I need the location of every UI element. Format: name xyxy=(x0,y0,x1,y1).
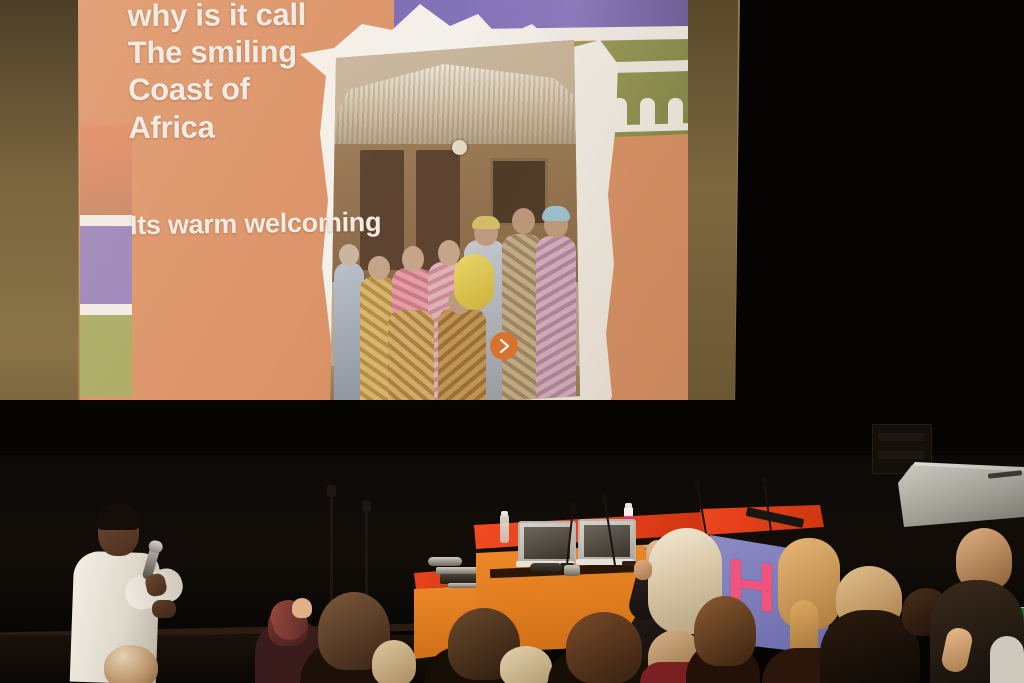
screen-right-margin xyxy=(688,0,738,415)
screen-left-margin xyxy=(0,0,78,461)
audience-head-6 xyxy=(566,612,642,683)
audience-head-3 xyxy=(372,640,416,683)
audience-head-8 xyxy=(694,596,756,666)
laptop-right-screen xyxy=(584,525,630,557)
desk-cup xyxy=(564,565,580,576)
slide-heading-line-1: why is it call xyxy=(127,0,447,34)
audience-head-5 xyxy=(500,646,552,683)
slide-heading-line-4: Africa xyxy=(128,106,448,145)
audience-white-shirt xyxy=(990,636,1024,683)
presenter-lower-hand xyxy=(152,600,176,618)
slide-heading: why is it call The smiling Coast of Afri… xyxy=(127,0,448,146)
projected-slide: chevron-right-icon why is it call The sm… xyxy=(78,0,690,455)
slide-heading-line-3: Coast of xyxy=(128,69,448,108)
laptop-left-screen xyxy=(524,527,570,559)
audience-bald-head xyxy=(104,645,158,683)
presenter-hair xyxy=(96,504,140,530)
slide-subheading: Its warm welcoming xyxy=(130,206,470,242)
water-bottle-left xyxy=(500,515,509,543)
desk-small-device xyxy=(530,563,562,572)
moderator-hand xyxy=(634,560,652,580)
audience-hand xyxy=(292,598,312,618)
presentation-photo-scene: chevron-right-icon why is it call The sm… xyxy=(0,0,1024,683)
slide-heading-line-2: The smiling xyxy=(128,32,448,71)
desk-dish-item xyxy=(428,557,462,566)
